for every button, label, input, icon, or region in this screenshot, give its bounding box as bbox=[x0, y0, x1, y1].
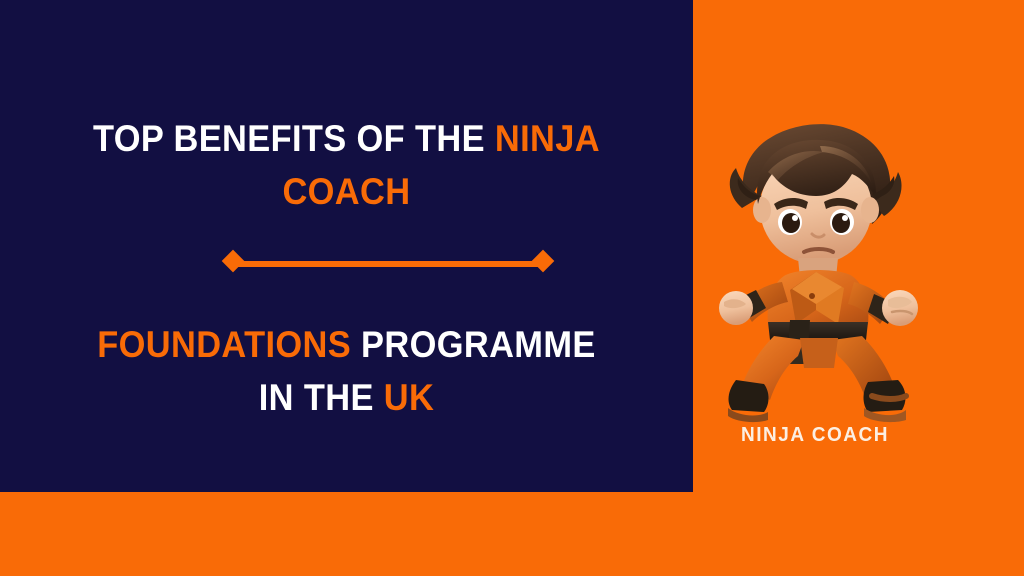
divider bbox=[222, 252, 554, 276]
divider-diamond-left-icon bbox=[222, 250, 245, 273]
divider-diamond-right-icon bbox=[532, 250, 555, 273]
subline-text-accent-uk: UK bbox=[384, 377, 434, 418]
headline-text-plain: TOP BENEFITS OF THE bbox=[93, 118, 495, 159]
brand-label: NINJA COACH bbox=[706, 424, 925, 447]
subline-text-accent-foundations: FOUNDATIONS bbox=[97, 324, 351, 365]
page-subtitle: FOUNDATIONS PROGRAMME IN THE UK bbox=[24, 318, 668, 424]
promo-banner: TOP BENEFITS OF THE NINJA COACH FOUNDATI… bbox=[0, 0, 1024, 576]
divider-line bbox=[233, 261, 543, 267]
subline-text-plain-inthe: IN THE bbox=[259, 377, 384, 418]
subline-text-plain-programme: PROGRAMME bbox=[351, 324, 596, 365]
ninja-boy-character-illustration bbox=[712, 112, 922, 424]
page-title: TOP BENEFITS OF THE NINJA COACH bbox=[24, 112, 668, 218]
headline-text-accent-ninja: NINJA bbox=[495, 118, 600, 159]
headline-text-accent-coach: COACH bbox=[282, 171, 410, 212]
